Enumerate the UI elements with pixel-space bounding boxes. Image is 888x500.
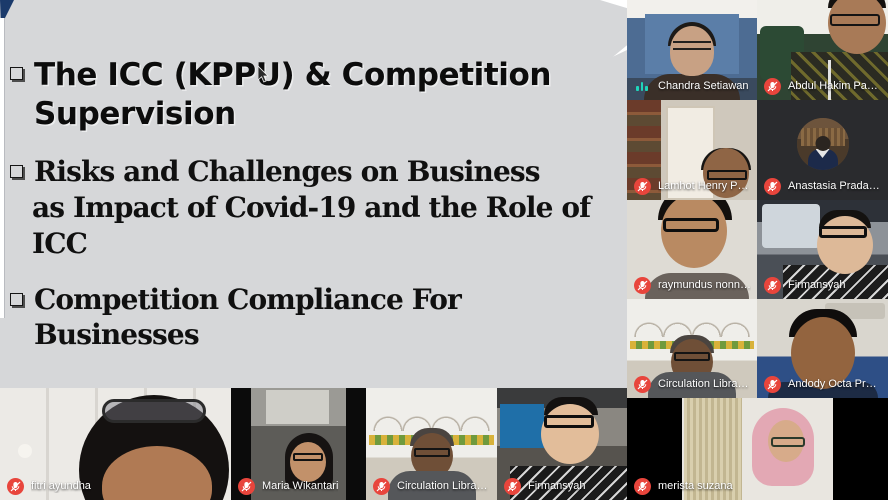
participant-name: Chandra Setiawan bbox=[658, 80, 749, 93]
filmstrip-participants[interactable]: fitri ayundha Maria Wikan bbox=[0, 388, 627, 500]
participant-name-bar: raymundus nonnatus ... bbox=[627, 274, 757, 299]
checkbox-bullet-icon bbox=[10, 165, 23, 178]
participant-name: Anastasia Pradah We... bbox=[788, 180, 882, 193]
participant-name: Circulation Library Pre... bbox=[658, 378, 751, 391]
bullet-1-line-2: Supervision bbox=[34, 95, 623, 134]
participant-name-bar: Firmansyah bbox=[497, 475, 627, 500]
audio-level-icon bbox=[634, 78, 651, 95]
bullet-2-line-2: as Impact of Covid-19 and the Role of IC… bbox=[32, 190, 623, 262]
participant-name-bar: Firmansyah bbox=[757, 274, 888, 299]
mic-muted-icon bbox=[764, 78, 781, 95]
participant-tile-andody-octa-pratama[interactable]: Andody Octa Pratama bbox=[757, 299, 888, 398]
participant-row-1: Chandra Setiawan bbox=[627, 0, 888, 100]
slide-bullet-2: Risks and Challenges on Business as Impa… bbox=[10, 154, 623, 261]
participant-name-bar: Maria Wikantari bbox=[231, 475, 366, 500]
participant-tile-chandra-setiawan[interactable]: Chandra Setiawan bbox=[627, 0, 757, 100]
participant-name: Lamhot Henry Pasaribu bbox=[658, 180, 751, 193]
participant-name: Firmansyah bbox=[528, 480, 585, 493]
mic-muted-icon bbox=[634, 178, 651, 195]
participant-name-bar: Anastasia Pradah We... bbox=[757, 175, 888, 200]
participant-name-bar: fitri ayundha bbox=[0, 475, 231, 500]
filmstrip-tile-maria-wikantari[interactable]: Maria Wikantari bbox=[231, 388, 366, 500]
bullet-2-line-1: Risks and Challenges on Business bbox=[34, 154, 623, 190]
participant-name-bar: Chandra Setiawan bbox=[627, 75, 757, 100]
filmstrip-tile-fitri-ayundha[interactable]: fitri ayundha bbox=[0, 388, 231, 500]
participant-tile-lamhot-henry-pasaribu[interactable]: Lamhot Henry Pasaribu bbox=[627, 100, 757, 200]
participant-tile-firmansyah[interactable]: Firmansyah bbox=[757, 200, 888, 299]
mic-muted-icon bbox=[238, 478, 255, 495]
slide-bullet-3: Competition Compliance For Businesses bbox=[10, 282, 623, 354]
mic-muted-icon bbox=[373, 478, 390, 495]
participant-name: fitri ayundha bbox=[31, 480, 91, 493]
bullet-2-text: Risks and Challenges on Business as Impa… bbox=[34, 154, 623, 261]
participant-name: Circulation Library Pre... bbox=[397, 480, 491, 493]
mic-muted-icon bbox=[7, 478, 24, 495]
bullet-3-text: Competition Compliance For Businesses bbox=[34, 282, 623, 354]
participant-tile-merista-suzana[interactable]: merista suzana bbox=[627, 398, 888, 500]
participant-name: raymundus nonnatus ... bbox=[658, 279, 751, 292]
avatar bbox=[797, 118, 849, 170]
filmstrip-tile-circulation-library[interactable]: Circulation Library Pre... bbox=[366, 388, 497, 500]
participant-name-bar: Circulation Library Pre... bbox=[366, 475, 497, 500]
participant-row-3: raymundus nonnatus ... bbox=[627, 200, 888, 299]
checkbox-bullet-icon bbox=[10, 293, 23, 306]
mic-muted-icon bbox=[764, 178, 781, 195]
mic-muted-icon bbox=[634, 478, 651, 495]
participant-grid-sidebar[interactable]: Chandra Setiawan bbox=[627, 0, 888, 500]
mic-muted-icon bbox=[504, 478, 521, 495]
slide-bullet-1: The ICC (KPPU) & Competition Supervision bbox=[10, 56, 623, 134]
participant-name-bar: Circulation Library Pre... bbox=[627, 373, 757, 398]
mic-muted-icon bbox=[764, 376, 781, 393]
filmstrip-tile-firmansyah[interactable]: Firmansyah bbox=[497, 388, 627, 500]
mic-muted-icon bbox=[634, 376, 651, 393]
participant-tile-raymundus-nonnatus[interactable]: raymundus nonnatus ... bbox=[627, 200, 757, 299]
participant-tile-circulation-library[interactable]: Circulation Library Pre... bbox=[627, 299, 757, 398]
meeting-window: The ICC (KPPU) & Competition Supervision… bbox=[0, 0, 888, 500]
participant-row-4: Circulation Library Pre... bbox=[627, 299, 888, 398]
participant-name-bar: Lamhot Henry Pasaribu bbox=[627, 175, 757, 200]
participant-name-bar: merista suzana bbox=[627, 475, 888, 500]
participant-name: Maria Wikantari bbox=[262, 480, 338, 493]
bullet-3-line-1: Competition Compliance For Businesses bbox=[34, 282, 623, 354]
shared-screen-slide[interactable]: The ICC (KPPU) & Competition Supervision… bbox=[0, 0, 627, 388]
mic-muted-icon bbox=[634, 277, 651, 294]
bullet-1-line-1: The ICC (KPPU) & Competition bbox=[34, 56, 623, 95]
bullet-1-text: The ICC (KPPU) & Competition Supervision bbox=[34, 56, 623, 134]
participant-name: Firmansyah bbox=[788, 279, 845, 292]
participant-name: merista suzana bbox=[658, 480, 733, 493]
mic-muted-icon bbox=[764, 277, 781, 294]
participant-name: Abdul Hakim Pasaribu bbox=[788, 80, 882, 93]
checkbox-bullet-icon bbox=[10, 67, 23, 80]
participant-name-bar: Abdul Hakim Pasaribu bbox=[757, 75, 888, 100]
participant-tile-abdul-hakim-pasaribu[interactable]: Abdul Hakim Pasaribu bbox=[757, 0, 888, 100]
participant-row-2: Lamhot Henry Pasaribu bbox=[627, 100, 888, 200]
slide-content: The ICC (KPPU) & Competition Supervision… bbox=[0, 0, 627, 388]
participant-name: Andody Octa Pratama bbox=[788, 378, 882, 391]
participant-tile-anastasia-pradah[interactable]: Anastasia Pradah We... bbox=[757, 100, 888, 200]
participant-row-5: merista suzana bbox=[627, 398, 888, 500]
participant-name-bar: Andody Octa Pratama bbox=[757, 373, 888, 398]
